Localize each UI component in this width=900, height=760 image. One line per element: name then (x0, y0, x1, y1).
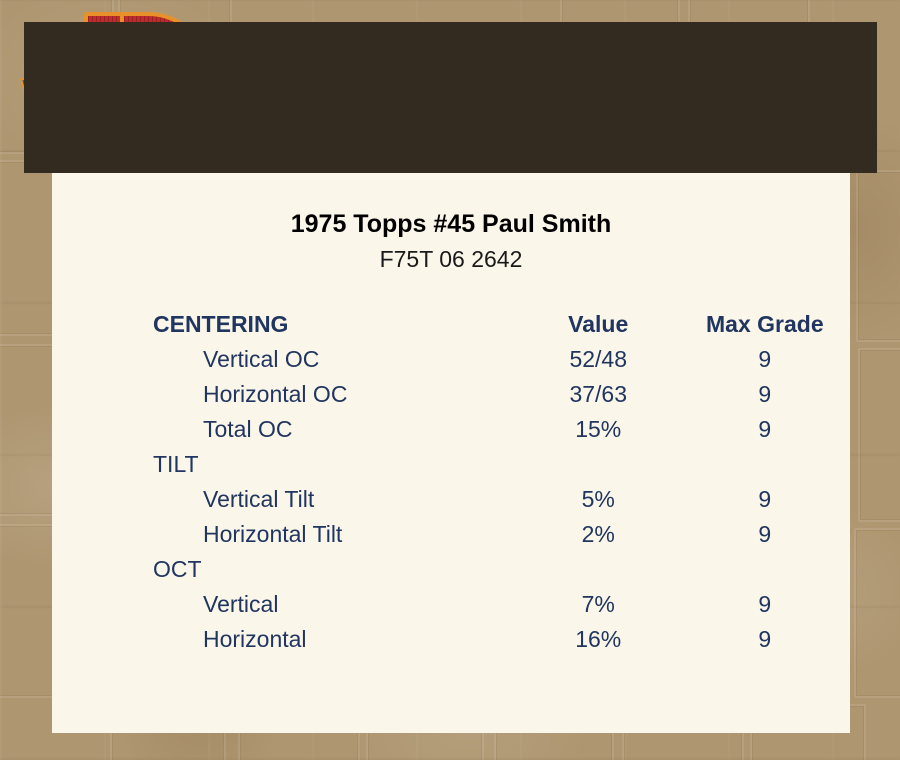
row-max-grade: 9 (680, 342, 850, 377)
row-label: Total OC (52, 412, 517, 447)
row-value: 7% (517, 587, 680, 622)
row-value: 37/63 (517, 377, 680, 412)
row-label: Vertical OC (52, 342, 517, 377)
table-group-row: OCT (52, 552, 850, 587)
table-row: Vertical 7% 9 (52, 587, 850, 622)
table-row: Horizontal Tilt 2% 9 (52, 517, 850, 552)
row-max-grade: 9 (680, 412, 850, 447)
group-spacer (680, 447, 850, 482)
row-max-grade: 9 (680, 622, 850, 657)
header-bar (24, 22, 877, 173)
table-row: Vertical OC 52/48 9 (52, 342, 850, 377)
row-value: 15% (517, 412, 680, 447)
row-value: 16% (517, 622, 680, 657)
row-label: Vertical Tilt (52, 482, 517, 517)
table-header-row: CENTERING Value Max Grade (52, 307, 850, 342)
row-max-grade: 9 (680, 587, 850, 622)
row-label: Horizontal (52, 622, 517, 657)
table-body: Vertical OC 52/48 9 Horizontal OC 37/63 … (52, 342, 850, 657)
row-label: Horizontal Tilt (52, 517, 517, 552)
group-header-tilt: TILT (52, 447, 517, 482)
row-max-grade: 9 (680, 377, 850, 412)
table-row: Total OC 15% 9 (52, 412, 850, 447)
page-root: DEAN'S CARDS GRADING STATS Back 1975 Top… (0, 0, 900, 760)
column-header-centering: CENTERING (52, 307, 517, 342)
column-header-value: Value (517, 307, 680, 342)
table-row: Horizontal 16% 9 (52, 622, 850, 657)
group-spacer (517, 552, 680, 587)
table-header: CENTERING Value Max Grade (52, 307, 850, 342)
row-value: 52/48 (517, 342, 680, 377)
table-row: Vertical Tilt 5% 9 (52, 482, 850, 517)
group-header-oct: OCT (52, 552, 517, 587)
row-label: Vertical (52, 587, 517, 622)
grading-stats-table: CENTERING Value Max Grade Vertical OC 52… (52, 307, 850, 657)
content-panel: 1975 Topps #45 Paul Smith F75T 06 2642 C… (52, 173, 850, 733)
group-spacer (680, 552, 850, 587)
column-header-max-grade: Max Grade (680, 307, 850, 342)
card-title: 1975 Topps #45 Paul Smith (52, 209, 850, 239)
group-spacer (517, 447, 680, 482)
row-max-grade: 9 (680, 482, 850, 517)
row-label: Horizontal OC (52, 377, 517, 412)
table-group-row: TILT (52, 447, 850, 482)
card-serial-number: F75T 06 2642 (52, 245, 850, 273)
table-row: Horizontal OC 37/63 9 (52, 377, 850, 412)
row-max-grade: 9 (680, 517, 850, 552)
row-value: 5% (517, 482, 680, 517)
row-value: 2% (517, 517, 680, 552)
